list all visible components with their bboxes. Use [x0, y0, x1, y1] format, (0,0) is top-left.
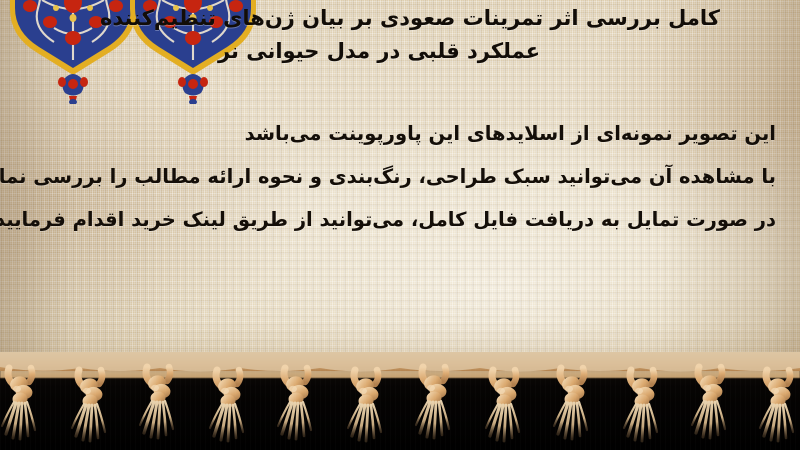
slide-title-line-1: کامل بررسی اثر تمرینات صعودی بر بیان ژن‌…	[12, 2, 800, 35]
medallion-pendant	[58, 74, 88, 104]
slide-body-line-3: در صورت تمایل به دریافت فایل کامل، می‌تو…	[24, 198, 776, 241]
slide-body: این تصویر نمونه‌ای از اسلایدهای این پاور…	[24, 112, 776, 241]
slide-body-line-2: با مشاهده آن می‌توانید سبک طراحی، رنگ‌بن…	[24, 155, 776, 198]
medallion-pendant-2	[178, 74, 208, 104]
slide-title: کامل بررسی اثر تمرینات صعودی بر بیان ژن‌…	[12, 2, 782, 68]
slide-title-line-2: عملکرد قلبی در مدل حیوانی نر	[12, 35, 746, 68]
carpet-fringe-tassels	[0, 352, 800, 450]
tassel-group	[2, 367, 793, 441]
slide-canvas: کامل بررسی اثر تمرینات صعودی بر بیان ژن‌…	[0, 0, 800, 450]
fringe-svg	[0, 352, 800, 450]
slide-body-line-1: این تصویر نمونه‌ای از اسلایدهای این پاور…	[24, 112, 776, 155]
